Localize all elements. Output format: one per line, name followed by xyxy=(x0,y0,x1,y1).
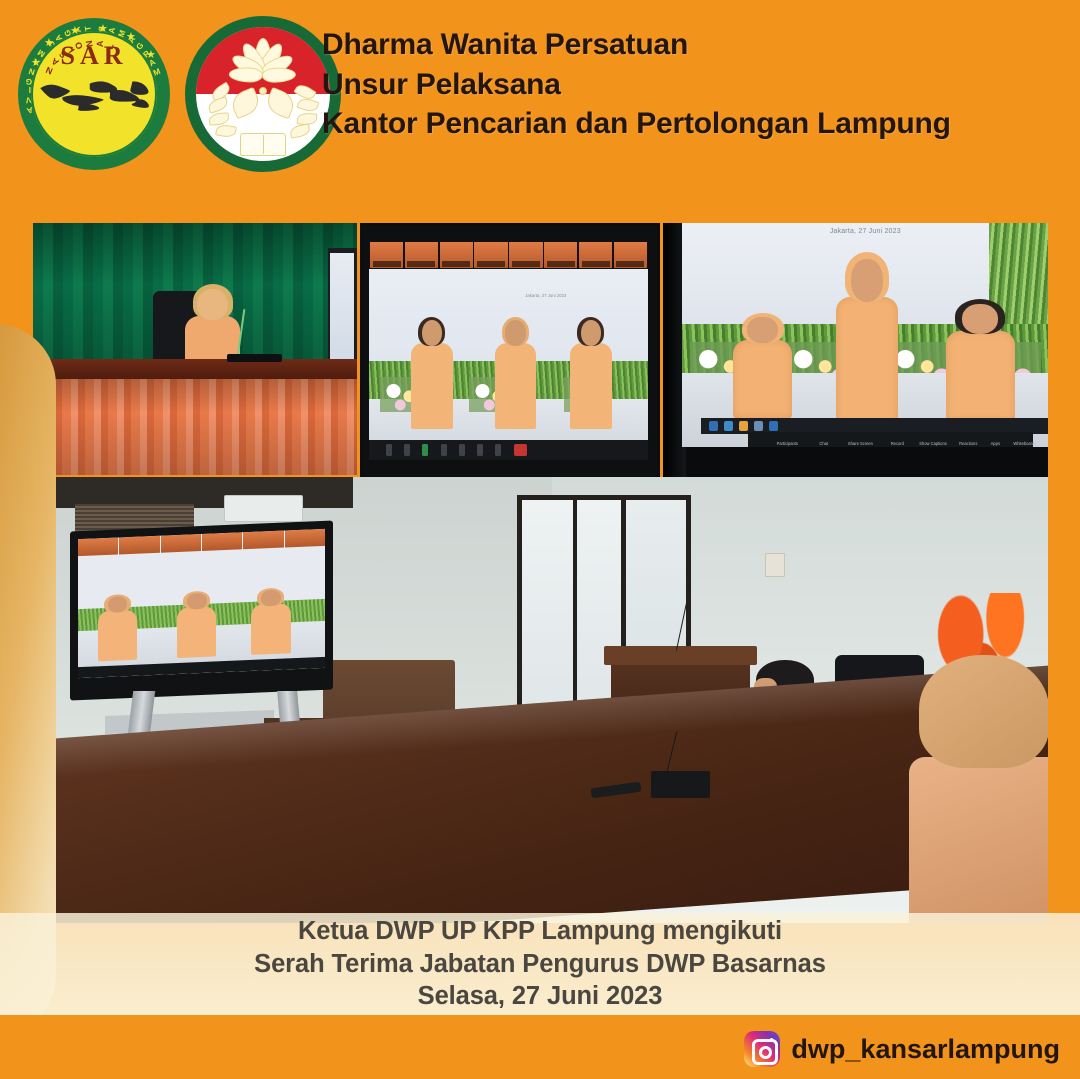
photo-collage: Jakarta, 27 Juni 2023 xyxy=(33,223,1048,923)
star-icon: ★ xyxy=(146,50,156,61)
zoom-participant xyxy=(495,320,537,430)
star-icon: ★ xyxy=(98,24,108,35)
seated-attendee xyxy=(946,304,1015,421)
microphone-base xyxy=(651,771,711,798)
bowing-attendee xyxy=(733,317,792,418)
photo-monitor-zoom-three-women: Jakarta, 27 Juni 2023 xyxy=(360,223,660,478)
zoom-toolbar[interactable] xyxy=(369,440,648,460)
star-icon: ★ xyxy=(70,26,80,37)
instagram-dot xyxy=(770,1038,774,1042)
star-icon: ★ xyxy=(126,32,136,43)
table-skirting xyxy=(39,379,357,475)
instagram-handle-text: dwp_kansarlampung xyxy=(791,1034,1060,1065)
title-line-2: Unsur Pelaksana xyxy=(322,65,1062,105)
air-conditioner xyxy=(224,495,303,522)
wall-switch[interactable] xyxy=(765,553,785,578)
presentation-television xyxy=(70,521,333,701)
dwp-logo-inner xyxy=(196,27,330,161)
sar-logo-inner-motto: N A S I O N A L xyxy=(18,18,170,170)
page-title: Dharma Wanita Persatuan Unsur Pelaksana … xyxy=(322,25,1062,144)
zoom-toolbar[interactable]: Participants Chat Share Screen Record Sh… xyxy=(748,432,1033,448)
standing-speaker xyxy=(836,259,898,425)
star-icon: ★ xyxy=(31,58,41,69)
photo-meeting-room-wide xyxy=(55,477,1048,923)
photo-monitor-closeup-ceremony: Jakarta, 27 Juni 2023 xyxy=(663,223,1048,478)
screen-date-text: Jakarta, 27 Juni 2023 xyxy=(525,293,566,298)
poster-header: SAR A V I G N A M J xyxy=(0,0,1080,205)
seated-chairwoman xyxy=(185,289,240,365)
caption-line-2: Serah Terima Jabatan Pengurus DWP Basarn… xyxy=(254,948,826,981)
star-icon: ★ xyxy=(44,38,54,49)
title-line-1: Dharma Wanita Persatuan xyxy=(322,25,1062,65)
instagram-icon[interactable] xyxy=(744,1031,780,1067)
screen-date-text: Jakarta, 27 Juni 2023 xyxy=(830,228,901,235)
poster-canvas: SAR A V I G N A M J xyxy=(0,0,1080,1079)
glass-door[interactable] xyxy=(517,495,626,731)
poster-footer: dwp_kansarlampung xyxy=(0,1015,1080,1079)
caption-line-3: Selasa, 27 Juni 2023 xyxy=(418,980,663,1013)
caption-band: Ketua DWP UP KPP Lampung mengikuti Serah… xyxy=(0,913,1080,1015)
dwp-logo-book-icon xyxy=(240,133,286,156)
zoom-participant xyxy=(570,320,612,430)
sar-nasional-logo-icon: SAR A V I G N A M J xyxy=(18,18,170,170)
zoom-meeting-screen: Jakarta, 27 Juni 2023 xyxy=(369,241,648,460)
ceremony-screen: Jakarta, 27 Juni 2023 xyxy=(682,223,1048,447)
caption-line-1: Ketua DWP UP KPP Lampung mengikuti xyxy=(298,915,782,948)
zoom-participant xyxy=(411,320,453,430)
participant-thumbnail-strip[interactable] xyxy=(369,241,648,270)
instagram-handle-group[interactable]: dwp_kansarlampung xyxy=(744,1031,1060,1067)
photo-chairwoman-at-head-table xyxy=(33,223,357,475)
nameplate xyxy=(227,354,282,362)
ketua-dwp-foreground xyxy=(909,655,1048,923)
dharma-wanita-persatuan-logo-icon xyxy=(185,16,341,172)
title-line-3: Kantor Pencarian dan Pertolongan Lampung xyxy=(322,104,1062,144)
